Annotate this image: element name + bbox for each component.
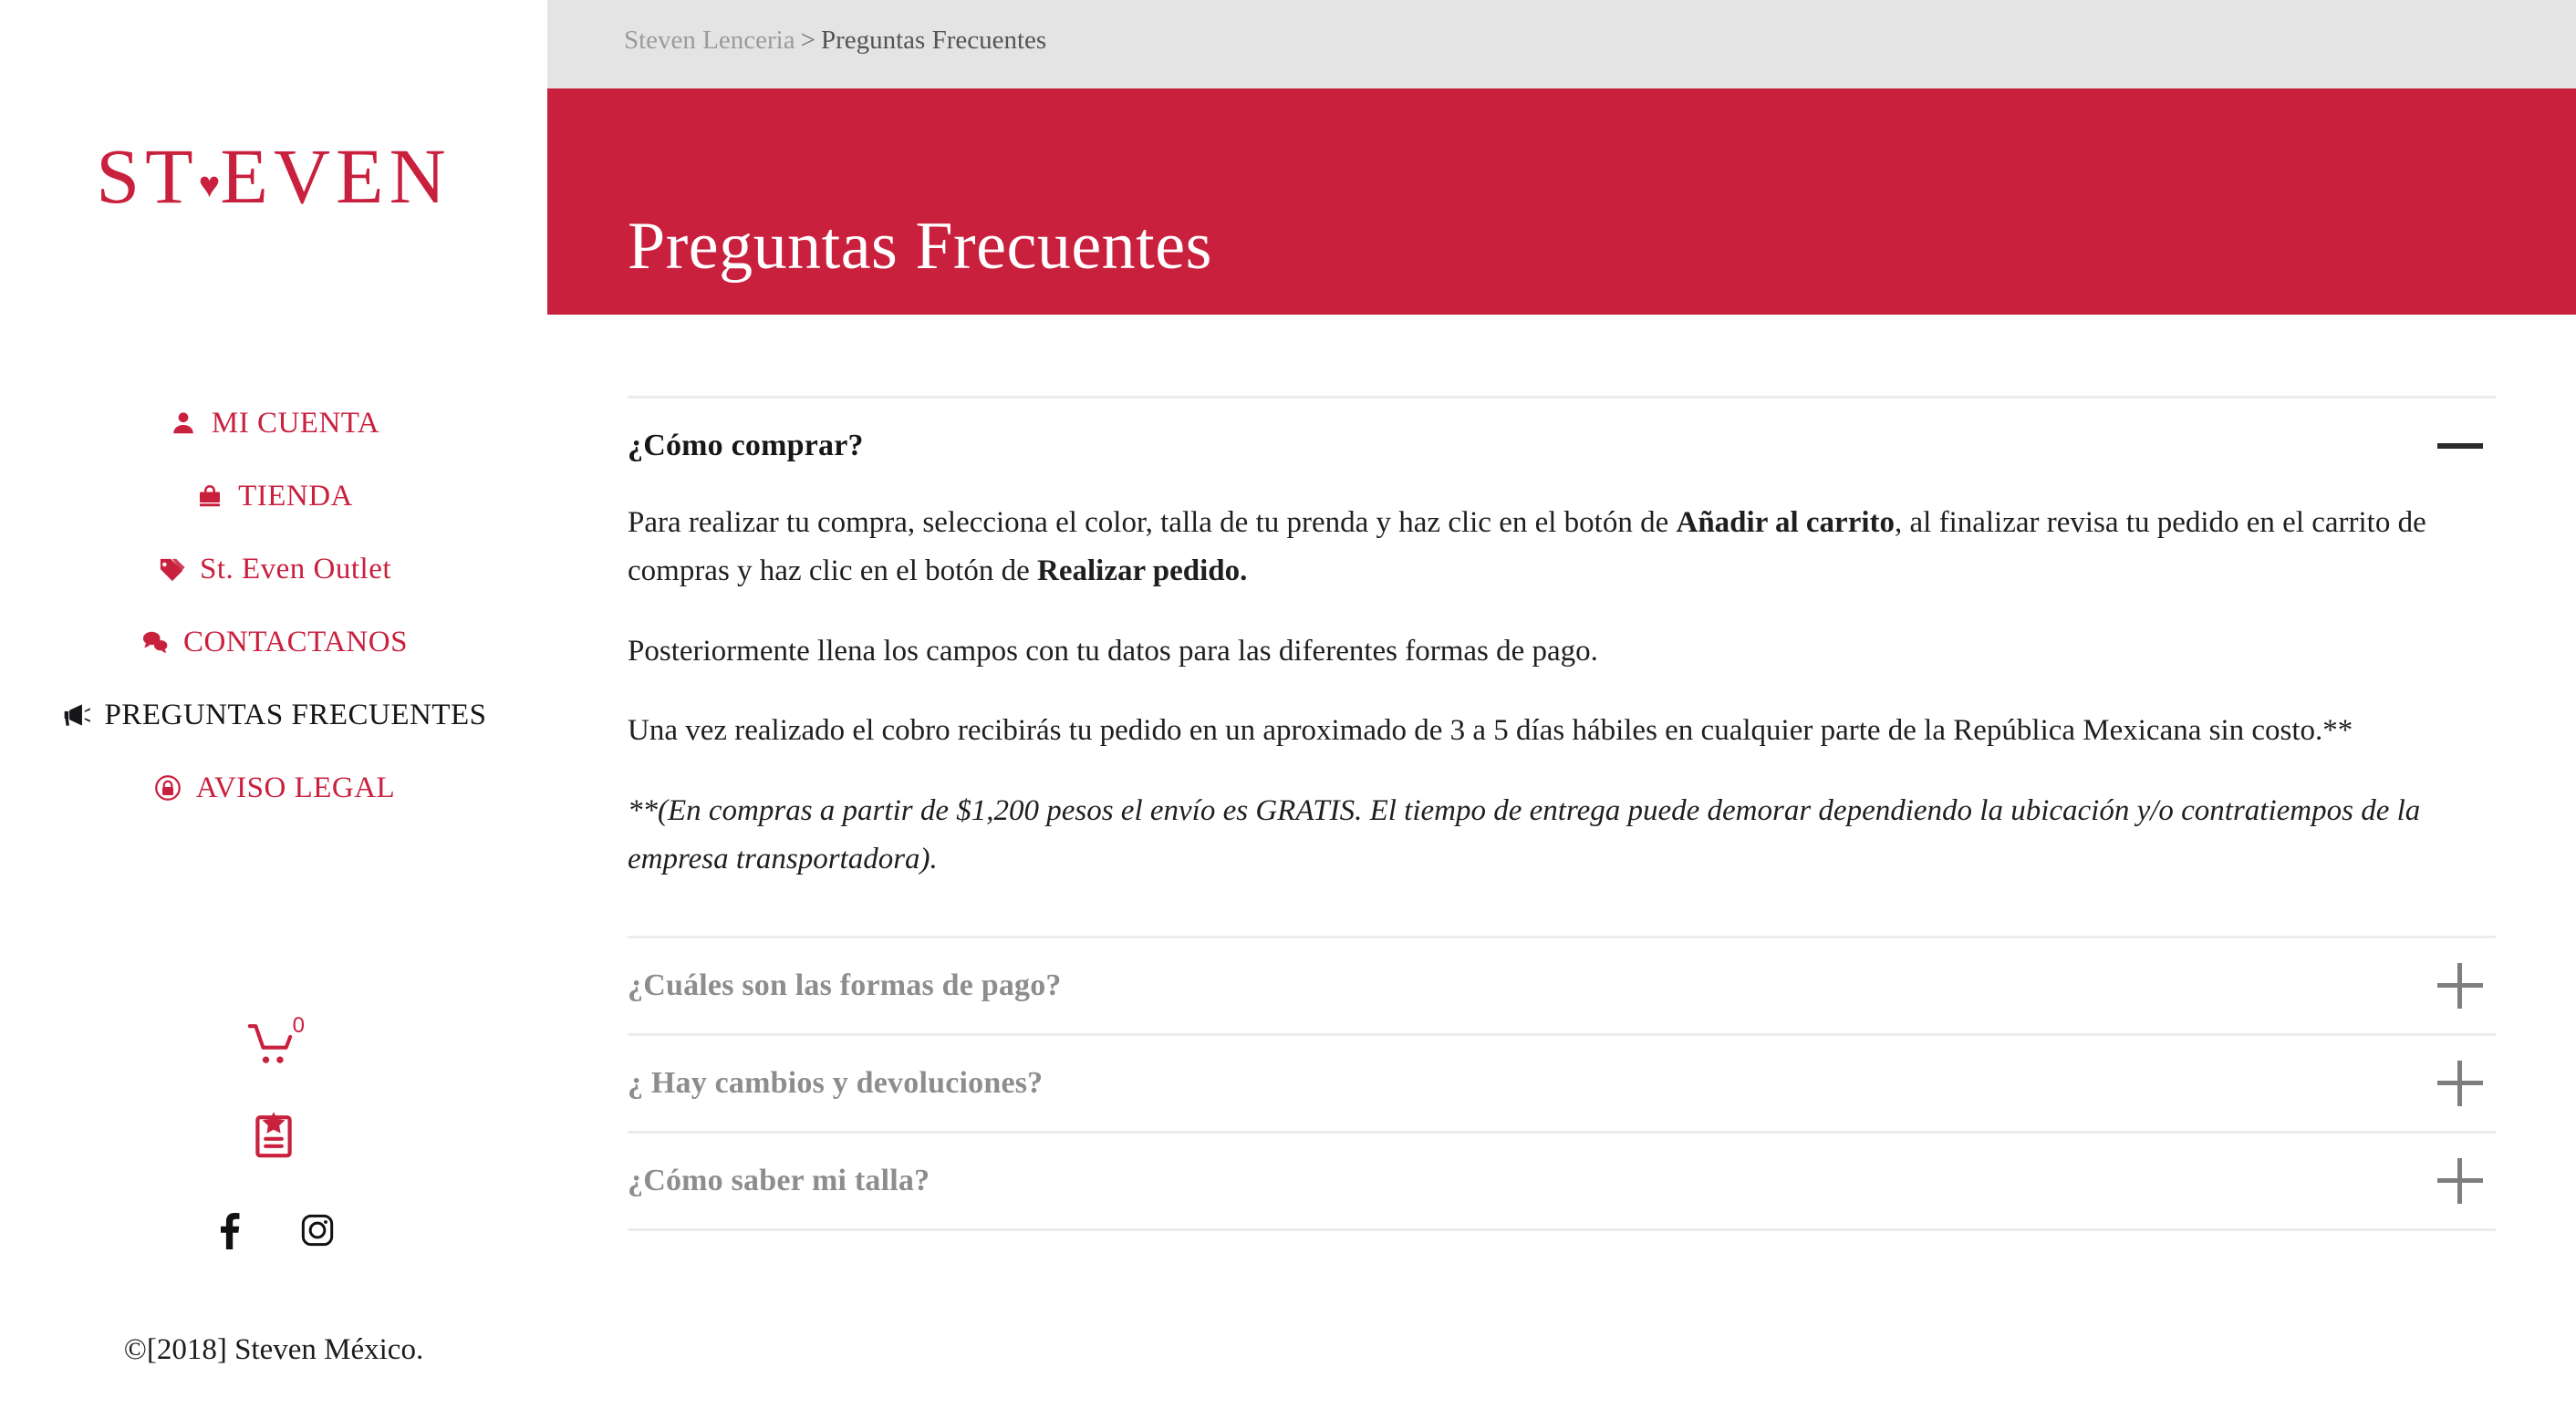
instagram-icon[interactable] bbox=[299, 1212, 336, 1248]
sidebar-item-preguntas-frecuentes[interactable]: PREGUNTAS FRECUENTES bbox=[0, 678, 547, 751]
brand-logo[interactable]: ST♥EVEN bbox=[0, 137, 547, 215]
facebook-icon[interactable] bbox=[212, 1211, 243, 1249]
faq-accordion: ¿Cómo comprar?Para realizar tu compra, s… bbox=[628, 396, 2496, 1231]
page-banner: Preguntas Frecuentes bbox=[547, 88, 2576, 315]
cart-count-badge: 0 bbox=[293, 1015, 305, 1037]
faq-answer-paragraph: Una vez realizado el cobro recibirás tu … bbox=[628, 707, 2438, 755]
faq-question-text: ¿Cuáles son las formas de pago? bbox=[628, 968, 1062, 1003]
megaphone-icon bbox=[61, 699, 92, 730]
wishlist-row bbox=[0, 1091, 547, 1178]
sidebar-item-label: TIENDA bbox=[238, 480, 353, 513]
lock-icon bbox=[152, 772, 183, 803]
faq-question-text: ¿Cómo saber mi talla? bbox=[628, 1164, 930, 1198]
breadcrumb-current: Preguntas Frecuentes bbox=[821, 26, 1046, 55]
faq-question-header[interactable]: ¿Cuáles son las formas de pago? bbox=[628, 938, 2496, 1033]
cart-row: 0 bbox=[0, 1003, 547, 1091]
sidebar-item-mi-cuenta[interactable]: MI CUENTA bbox=[0, 387, 547, 460]
faq-question-text: ¿ Hay cambios y devoluciones? bbox=[628, 1066, 1043, 1101]
sidebar-item-aviso-legal[interactable]: AVISO LEGAL bbox=[0, 751, 547, 824]
content-area: Steven Lenceria>Preguntas Frecuentes Pre… bbox=[547, 0, 2576, 1419]
emphasis-text: Realizar pedido. bbox=[1037, 554, 1247, 587]
user-icon bbox=[168, 408, 199, 439]
bag-icon bbox=[194, 481, 225, 512]
heart-icon: ♥ bbox=[199, 164, 221, 205]
sidebar: ST♥EVEN MI CUENTA bbox=[0, 0, 547, 1419]
faq-item: ¿ Hay cambios y devoluciones? bbox=[628, 1033, 2496, 1131]
sidebar-item-label: AVISO LEGAL bbox=[196, 772, 395, 805]
plus-icon[interactable] bbox=[2437, 1061, 2483, 1106]
faq-answer-paragraph: Para realizar tu compra, selecciona el c… bbox=[628, 499, 2438, 596]
wishlist-icon[interactable] bbox=[250, 1109, 297, 1160]
breadcrumb-separator: > bbox=[801, 26, 815, 55]
breadcrumb-root[interactable]: Steven Lenceria bbox=[624, 26, 795, 55]
body-text: Una vez realizado el cobro recibirás tu … bbox=[628, 714, 2353, 747]
sidebar-utilities: 0 bbox=[0, 1003, 547, 1262]
breadcrumb-bar: Steven Lenceria>Preguntas Frecuentes bbox=[547, 0, 2576, 88]
page-title: Preguntas Frecuentes bbox=[628, 208, 1212, 285]
faq-answer-paragraph: Posteriormente llena los campos con tu d… bbox=[628, 627, 2438, 676]
sidebar-item-label: MI CUENTA bbox=[212, 407, 379, 440]
logo-suffix: EVEN bbox=[220, 132, 451, 220]
faq-question-header[interactable]: ¿Cómo comprar? bbox=[628, 399, 2496, 493]
faq-item: ¿Cuáles son las formas de pago? bbox=[628, 936, 2496, 1033]
faq-answer-body: Para realizar tu compra, selecciona el c… bbox=[628, 493, 2496, 936]
faq-item: ¿Cómo comprar?Para realizar tu compra, s… bbox=[628, 396, 2496, 936]
faq-question-text: ¿Cómo comprar? bbox=[628, 429, 864, 463]
faq-page: ST♥EVEN MI CUENTA bbox=[0, 0, 2576, 1419]
body-text: **(En compras a partir de $1,200 pesos e… bbox=[628, 794, 2420, 875]
cart-button[interactable]: 0 bbox=[245, 1020, 302, 1074]
copyright-text: ©[2018] Steven México. bbox=[0, 1333, 547, 1367]
body-text: Posteriormente llena los campos con tu d… bbox=[628, 635, 1598, 668]
chat-icon bbox=[140, 627, 171, 658]
faq-question-header[interactable]: ¿ Hay cambios y devoluciones? bbox=[628, 1036, 2496, 1131]
faq-item: ¿Cómo saber mi talla? bbox=[628, 1131, 2496, 1231]
sidebar-item-outlet[interactable]: St. Even Outlet bbox=[0, 533, 547, 606]
tag-icon bbox=[156, 554, 187, 585]
sidebar-item-tienda[interactable]: TIENDA bbox=[0, 460, 547, 533]
faq-question-header[interactable]: ¿Cómo saber mi talla? bbox=[628, 1134, 2496, 1228]
sidebar-item-label: CONTACTANOS bbox=[183, 626, 408, 659]
sidebar-nav: MI CUENTA TIENDA bbox=[0, 387, 547, 824]
social-row bbox=[0, 1198, 547, 1262]
sidebar-item-label: St. Even Outlet bbox=[200, 553, 391, 586]
emphasis-text: Añadir al carrito bbox=[1676, 506, 1895, 539]
sidebar-item-label: PREGUNTAS FRECUENTES bbox=[105, 699, 487, 732]
breadcrumb: Steven Lenceria>Preguntas Frecuentes bbox=[624, 26, 1046, 56]
plus-icon[interactable] bbox=[2437, 963, 2483, 1009]
minus-icon[interactable] bbox=[2437, 423, 2483, 469]
sidebar-item-contactanos[interactable]: CONTACTANOS bbox=[0, 606, 547, 678]
faq-answer-paragraph: **(En compras a partir de $1,200 pesos e… bbox=[628, 787, 2438, 885]
plus-icon[interactable] bbox=[2437, 1158, 2483, 1204]
body-text: Para realizar tu compra, selecciona el c… bbox=[628, 506, 1676, 539]
logo-prefix: ST bbox=[96, 132, 198, 220]
